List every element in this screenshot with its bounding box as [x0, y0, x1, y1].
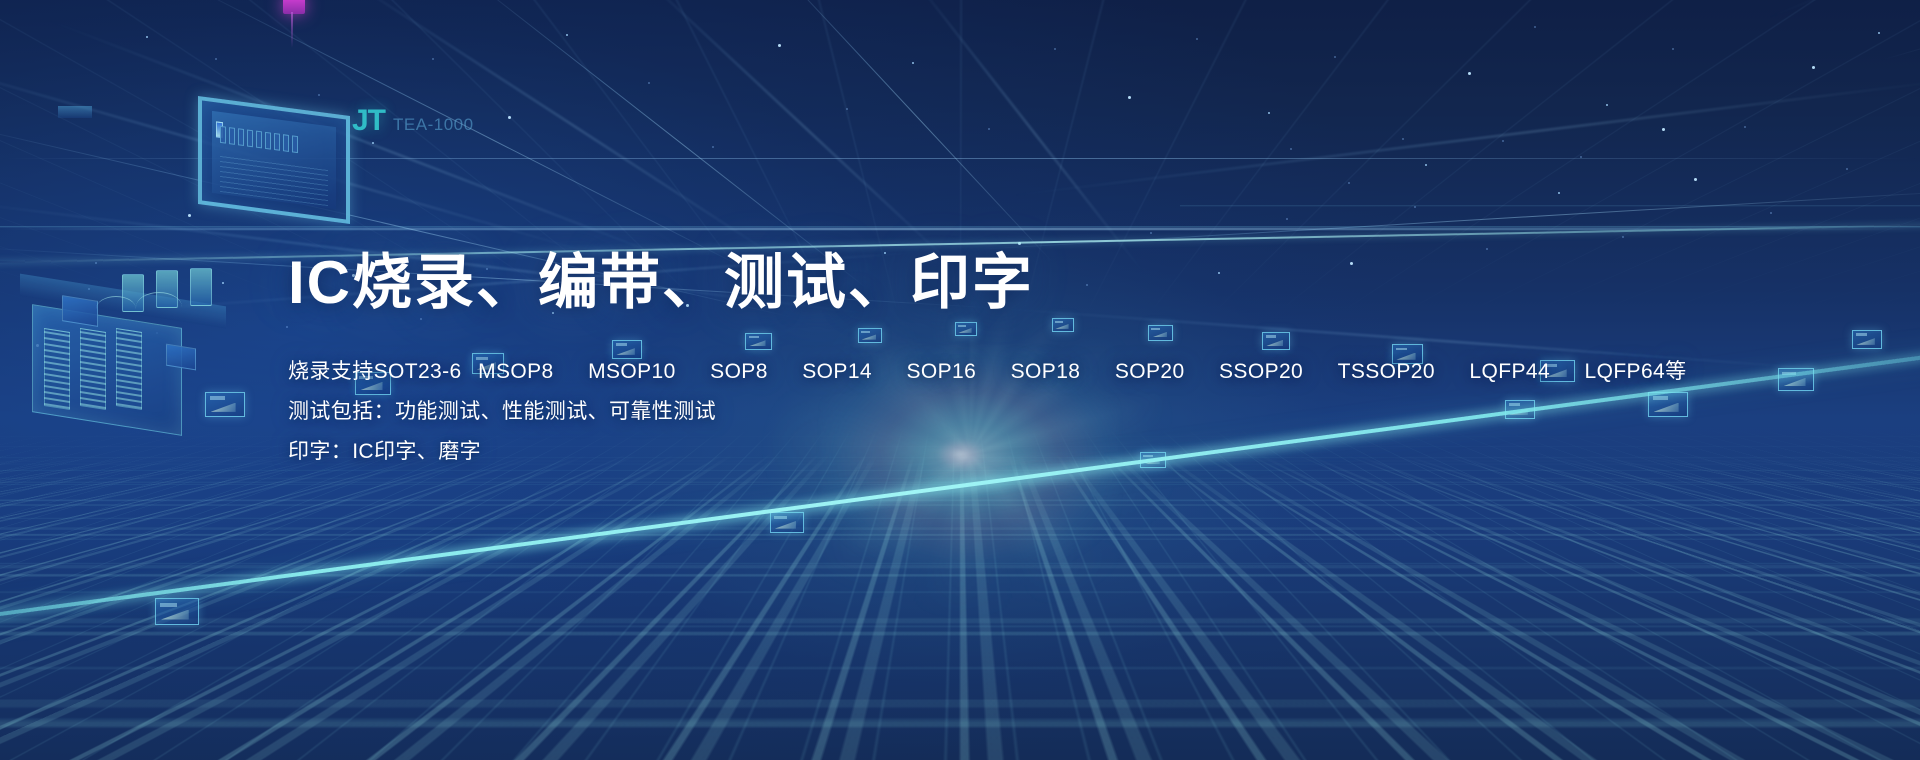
machine-fin-2	[80, 328, 106, 410]
package-label: LQFP64等	[1572, 360, 1686, 383]
page-title: IC烧录、编带、测试、印字	[288, 248, 1608, 319]
marking-service-line: 印字：IC印字、磨字	[288, 433, 1608, 471]
package-label: SOP14	[790, 360, 872, 383]
package-label: TSSOP20	[1325, 360, 1435, 383]
rear-platform-line	[1180, 205, 1920, 207]
package-label: MSOP10	[576, 360, 676, 383]
magenta-accent-stem	[291, 12, 293, 48]
particle-dot	[146, 36, 148, 38]
magenta-accent-light	[283, 0, 305, 14]
particle-dot	[912, 62, 914, 64]
particle-dot	[1558, 192, 1560, 194]
machine-motor-box	[166, 344, 196, 371]
banner-content: IC烧录、编带、测试、印字 烧录支持SOT23-6 MSOP8 MSOP10 S…	[288, 248, 1608, 473]
machine-pipe-2	[136, 292, 182, 322]
particle-dot	[188, 214, 191, 217]
particle-dot	[1150, 232, 1152, 234]
particle-dot	[1268, 112, 1270, 114]
particle-dot	[508, 116, 511, 119]
package-label: SOP16	[894, 360, 976, 383]
particle-dot	[1878, 32, 1880, 34]
control-monitor	[198, 96, 350, 224]
particle-dot	[1348, 182, 1350, 184]
particle-dot	[1580, 156, 1582, 158]
particle-dot	[1846, 168, 1848, 170]
particle-dot	[712, 146, 714, 148]
machine-control-box	[62, 295, 98, 327]
particle-dot	[1196, 38, 1198, 40]
package-label: SOP8	[698, 360, 768, 383]
monitor-frame	[198, 96, 350, 224]
burn-support-line: 烧录支持SOT23-6 MSOP8 MSOP10 SOP8 SOP14 SOP1…	[288, 353, 1608, 391]
particle-dot	[1606, 104, 1608, 106]
particle-dot	[1770, 212, 1772, 214]
machine-fin-1	[44, 328, 70, 410]
package-label: SSOP20	[1207, 360, 1304, 383]
hero-banner: JT TEA-1000 IC烧录、编带、测试、印字 烧录支持SOT23-6 MS…	[0, 0, 1920, 760]
particle-dot	[95, 262, 97, 264]
particle-dot	[1286, 218, 1288, 220]
particle-dot	[1534, 26, 1536, 28]
monitor-stand	[58, 106, 92, 118]
particle-dot	[372, 142, 374, 144]
particle-dot	[1468, 72, 1471, 75]
package-label: LQFP44	[1457, 360, 1550, 383]
particle-dot	[1694, 178, 1697, 181]
monitor-chip-row	[220, 126, 298, 153]
particle-dot	[648, 82, 650, 84]
particle-dot	[1672, 48, 1674, 50]
particle-dot	[1502, 140, 1504, 142]
particle-dot	[1054, 48, 1056, 50]
particle-dot	[988, 128, 990, 130]
particle-dot	[1744, 126, 1746, 128]
brand-model-text: TEA-1000	[393, 115, 474, 135]
burn-support-lead: 烧录支持SOT23-6	[288, 360, 462, 383]
test-scope-line: 测试包括：功能测试、性能测试、可靠性测试	[288, 393, 1608, 431]
package-label: SOP20	[1102, 360, 1184, 383]
particle-dot	[1425, 164, 1427, 166]
particle-dot	[215, 58, 217, 60]
monitor-screen	[212, 111, 336, 209]
particle-dot	[1334, 56, 1336, 58]
package-label: SOP18	[998, 360, 1080, 383]
equipment-brand-logo: JT TEA-1000	[352, 104, 474, 138]
particle-dot	[432, 58, 434, 60]
machine-tank-3	[190, 268, 212, 306]
workstation-chip-icon	[155, 598, 199, 625]
particle-dot	[1622, 236, 1624, 238]
workstation-chip-icon	[1852, 330, 1882, 349]
package-list: MSOP8 MSOP10 SOP8 SOP14 SOP16 SOP18 SOP2…	[466, 360, 1687, 383]
package-label: MSOP8	[466, 360, 554, 383]
particle-dot	[1812, 66, 1815, 69]
machine-pipe-1	[96, 296, 136, 322]
particle-dot	[566, 34, 568, 36]
machine-fin-3	[116, 328, 142, 410]
monitor-data-rows	[220, 154, 328, 206]
particle-dot	[1290, 148, 1292, 150]
particle-dot	[1128, 96, 1131, 99]
conveyor-surface-line	[0, 226, 1920, 228]
particle-dot	[846, 108, 848, 110]
particle-dot	[778, 44, 781, 47]
particle-dot	[1402, 138, 1404, 140]
ic-handler-machine	[18, 268, 228, 448]
brand-mark-text: JT	[352, 104, 385, 138]
particle-dot	[318, 94, 320, 96]
particle-dot	[1662, 128, 1665, 131]
banner-subtext: 烧录支持SOT23-6 MSOP8 MSOP10 SOP8 SOP14 SOP1…	[288, 353, 1608, 471]
